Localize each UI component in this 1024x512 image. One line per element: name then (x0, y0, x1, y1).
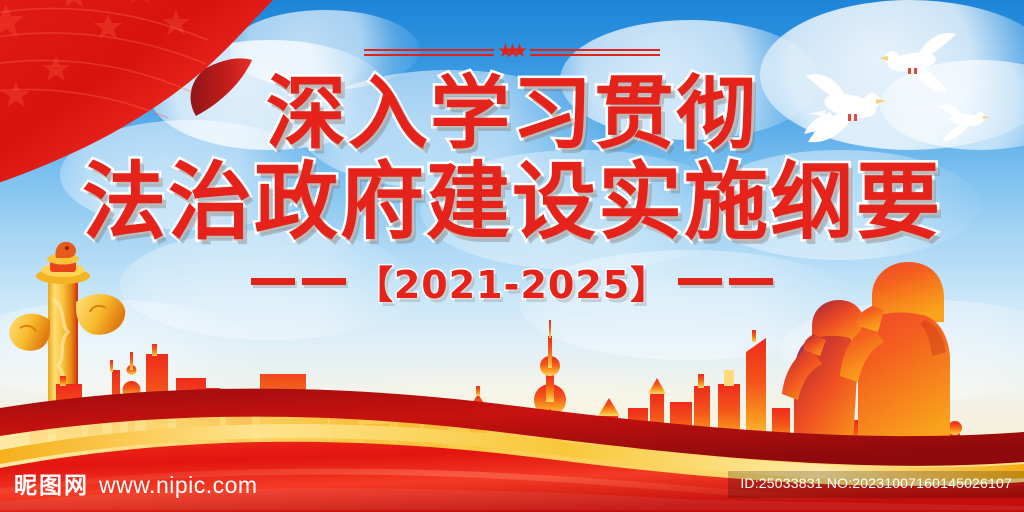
asset-id-text: ID:25033831 NO:20231007160145026107 (740, 475, 1012, 491)
headline-primary: 深入学习贯彻 (0, 74, 1024, 154)
asset-id-badge: ID:25033831 NO:20231007160145026107 (728, 471, 1024, 498)
subtitle-row: 【2021-2025】 (0, 254, 1024, 309)
site-watermark[interactable]: 昵图网 www.nipic.com (14, 466, 258, 500)
watermark-url: www.nipic.com (99, 472, 258, 499)
star-divider: ★ ★ ★ (0, 48, 1024, 57)
subtitle-dash-right-2 (729, 278, 773, 285)
subtitle-dash-left-1 (251, 278, 295, 285)
poster-canvas: ★ ★ ★ 深入学习贯彻 法治政府建设实施纲要 【2021-2025】 昵图网 … (0, 0, 1024, 512)
subtitle-dash-right-1 (678, 278, 722, 285)
subtitle-dash-left-2 (302, 278, 346, 285)
divider-line-right (530, 48, 660, 57)
subtitle-year-range: 【2021-2025】 (353, 254, 671, 309)
divider-line-left (364, 48, 494, 57)
headline-secondary: 法治政府建设实施纲要 (0, 160, 1024, 244)
watermark-brand-cn: 昵图网 (14, 466, 89, 500)
title-block: 深入学习贯彻 法治政府建设实施纲要 【2021-2025】 (0, 74, 1024, 309)
